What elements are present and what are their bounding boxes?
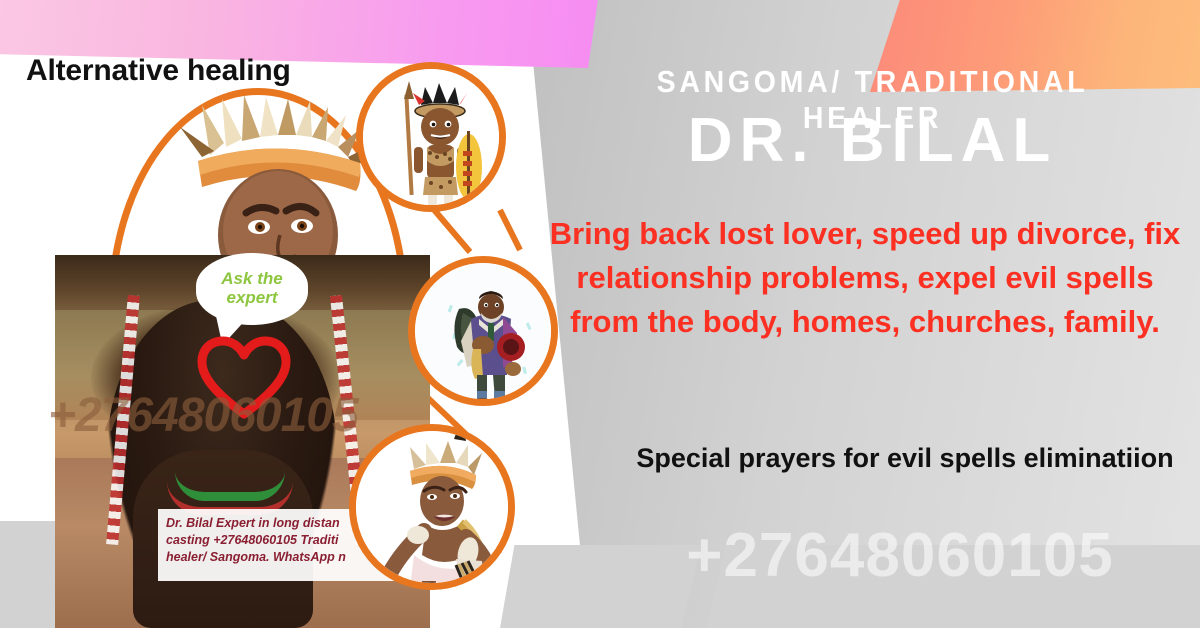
photo-phone-watermark: +27648060105 bbox=[48, 388, 358, 443]
speech-bubble: Ask the expert bbox=[196, 253, 308, 325]
page-title: Alternative healing bbox=[26, 54, 291, 88]
circle-thumb-traditional-man[interactable] bbox=[408, 256, 558, 406]
phone-watermark: +27648060105 bbox=[600, 520, 1200, 591]
poster-canvas: Alternative healing bbox=[0, 0, 1200, 628]
header-title: DR. BILAL bbox=[560, 105, 1185, 176]
services-text: Bring back lost lover, speed up divorce,… bbox=[540, 212, 1190, 344]
secondary-text: Special prayers for evil spells eliminat… bbox=[620, 440, 1190, 478]
circle-thumb-zulu-warrior[interactable] bbox=[356, 62, 506, 212]
speech-bubble-label: Ask the expert bbox=[196, 270, 308, 307]
circle-thumb-sangoma-dancer[interactable] bbox=[349, 424, 515, 590]
